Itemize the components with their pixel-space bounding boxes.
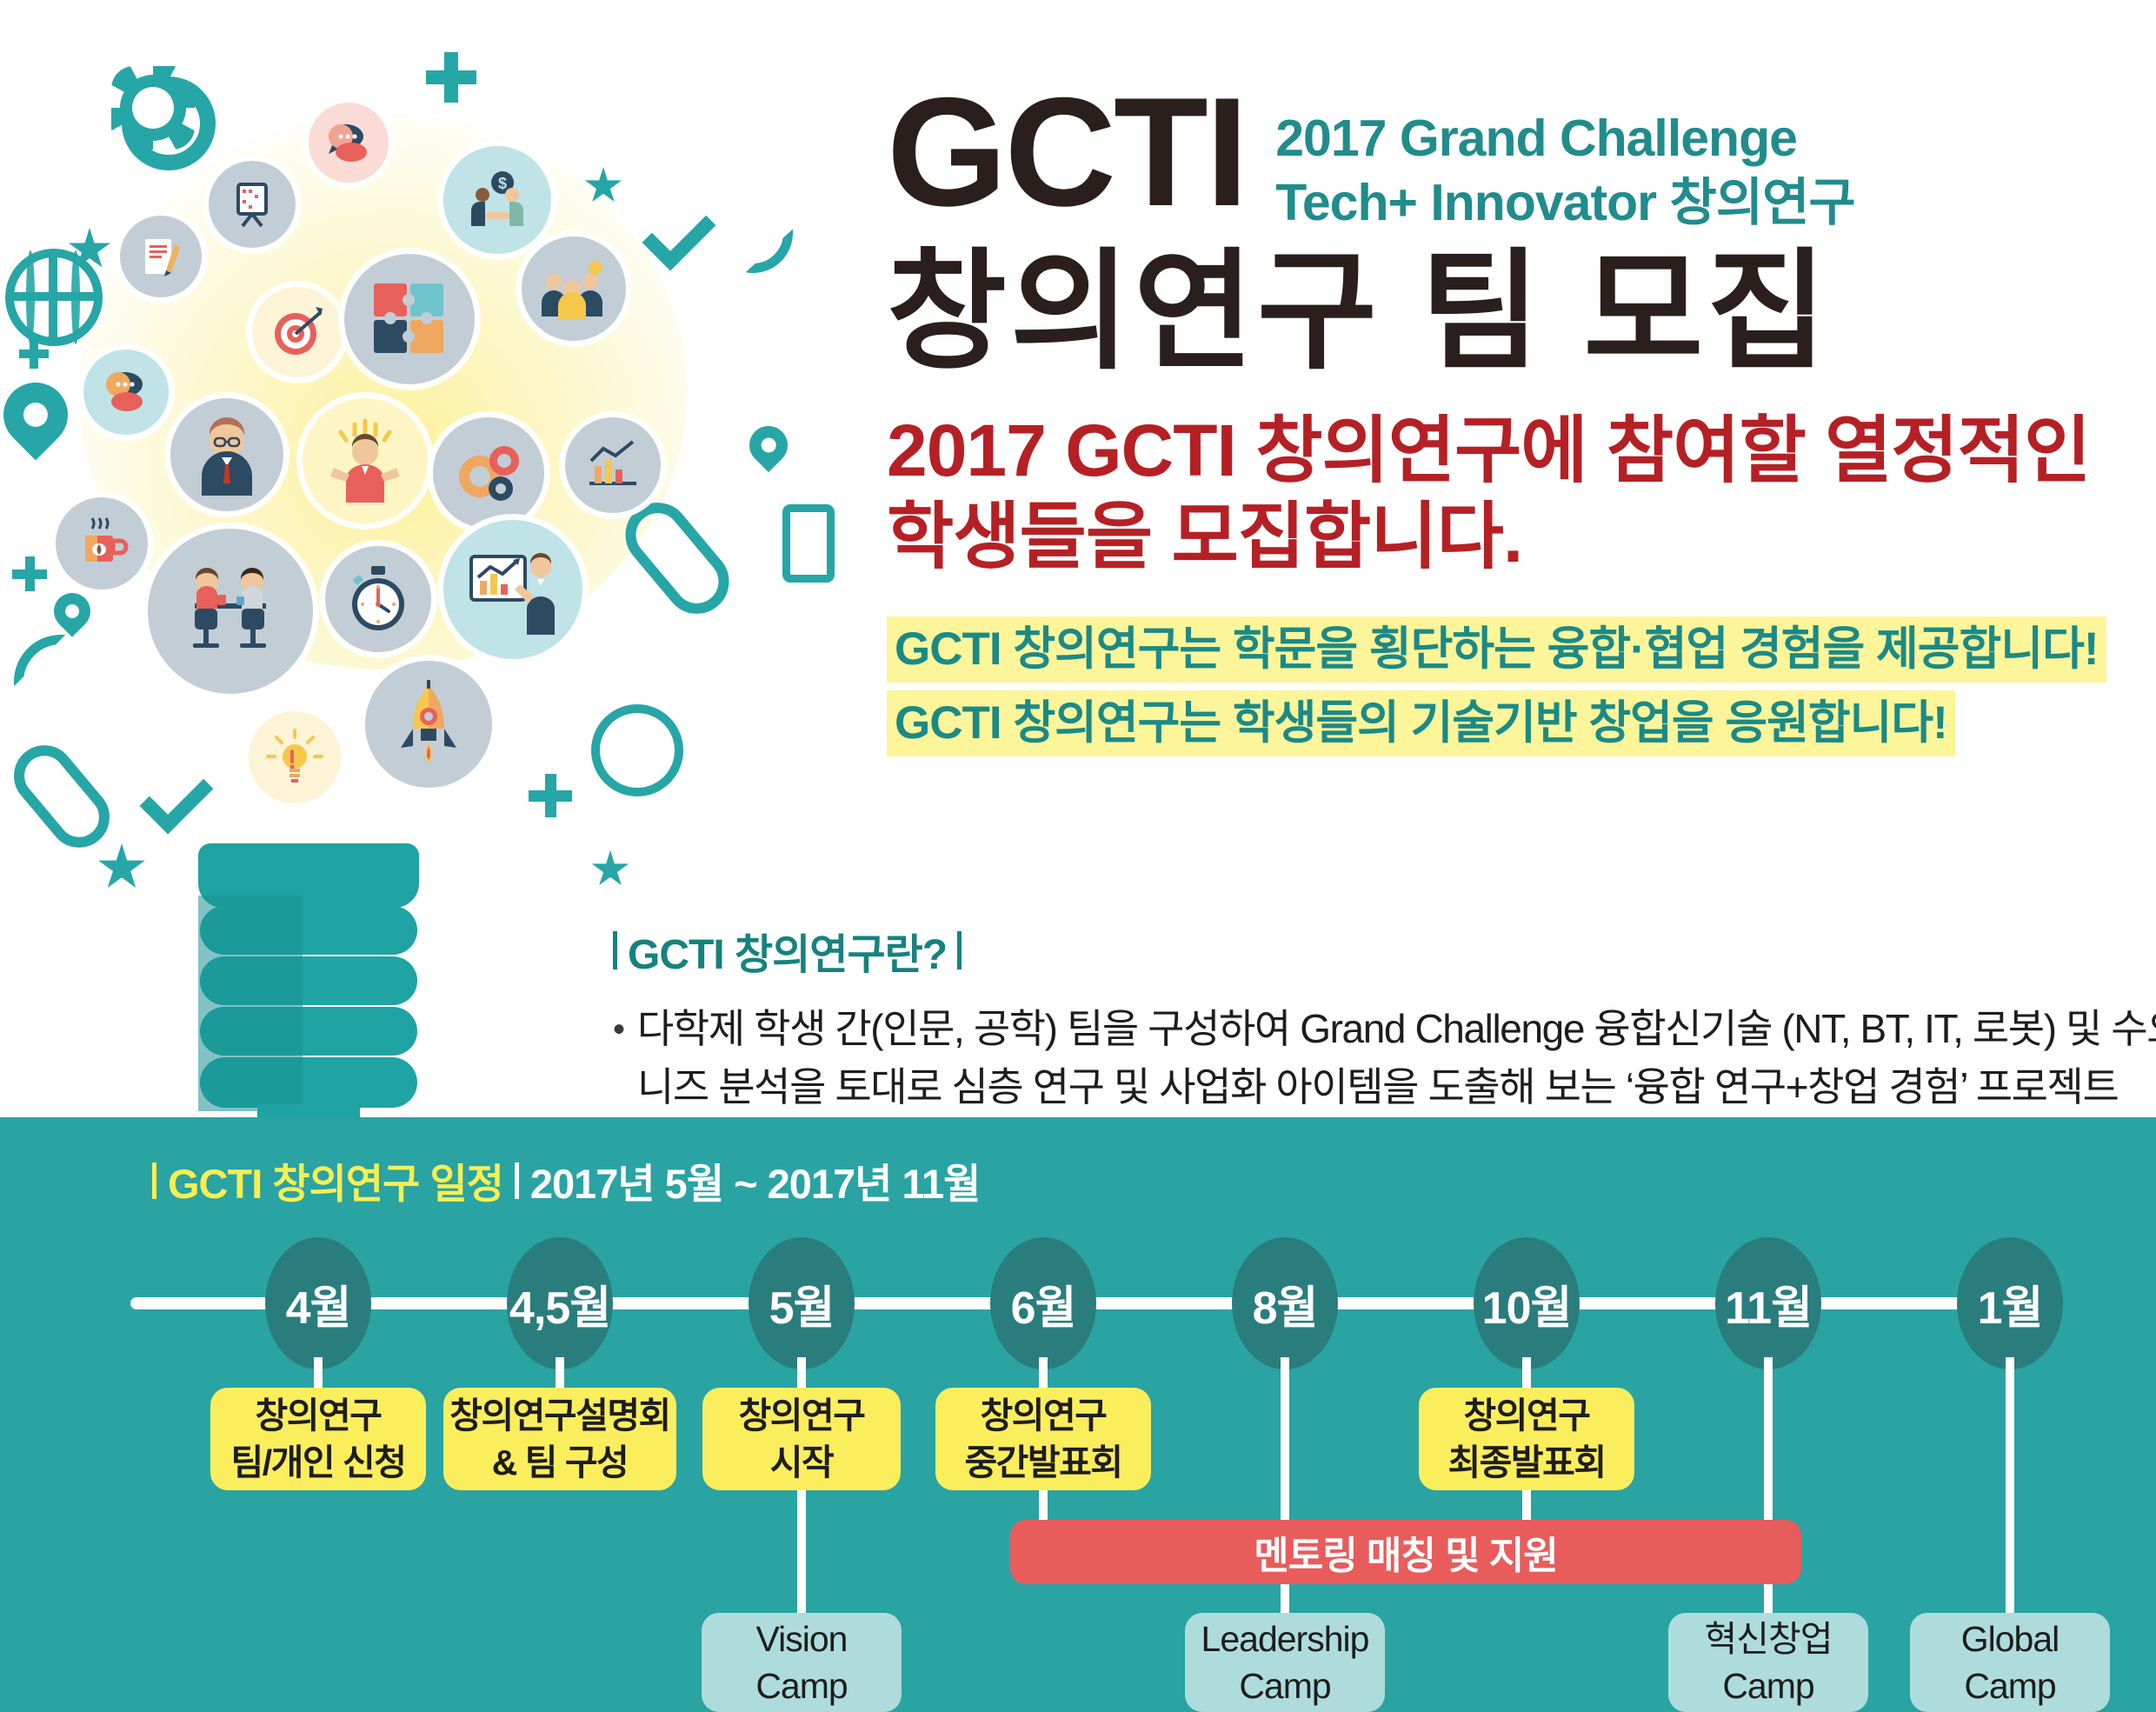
milestone-stem xyxy=(556,1357,564,1388)
milestone-box: 창의연구중간발표회 xyxy=(935,1388,1151,1490)
stopwatch-icon xyxy=(325,546,431,652)
celebrating-person-icon xyxy=(303,398,428,523)
camp-line1: 혁신창업 xyxy=(1705,1615,1833,1662)
milestone-stem xyxy=(314,1357,323,1388)
team-group-icon xyxy=(522,236,626,341)
plus-icon xyxy=(529,774,572,817)
schedule-bar-left xyxy=(152,1162,156,1199)
timeline-node-4,5월: 4,5월 xyxy=(507,1237,613,1369)
gcti-logo: GCTI xyxy=(887,87,1246,217)
milestone-box: 창의연구설명회& 팀 구성 xyxy=(443,1388,676,1490)
star-icon xyxy=(591,850,629,889)
highlight-line-2: GCTI 창의연구는 학생들의 기술기반 창업을 응원합니다! xyxy=(887,690,1955,756)
recruit-message: 2017 GCTI 창의연구에 참여할 열정적인 학생들을 모집합니다. xyxy=(887,408,2139,580)
location-pin-icon xyxy=(46,585,97,636)
businessman-icon xyxy=(170,398,283,511)
target-dartboard-icon xyxy=(252,287,343,377)
star-icon xyxy=(97,843,146,892)
schedule-bar-mid xyxy=(515,1162,519,1199)
milestone-line1: 창의연구설명회 xyxy=(449,1392,670,1439)
location-pin-icon xyxy=(742,418,795,472)
camp-box: 혁신창업Camp xyxy=(1668,1613,1868,1712)
camp-line2: Camp xyxy=(1964,1662,2055,1709)
milestone-line2: 팀/개인 신청 xyxy=(231,1439,406,1486)
recruit-message-line2: 학생들을 모집합니다. xyxy=(887,494,2139,580)
definition-line1: 다학제 학생 간(인문, 공학) 팀을 구성하여 Grand Challenge… xyxy=(637,1000,2156,1058)
timeline-node-10월: 10월 xyxy=(1474,1237,1580,1369)
timeline-node-1월: 1월 xyxy=(1957,1237,2063,1369)
coffee-cup-icon xyxy=(56,497,148,590)
definition-line2: 니즈 분석을 토대로 심층 연구 및 사업화 아이템을 도출해 보는 ‘융합 연… xyxy=(637,1058,2156,1116)
recruit-message-line1: 2017 GCTI 창의연구에 참여할 열정적인 xyxy=(887,408,2139,494)
puzzle-pieces-icon xyxy=(344,254,475,384)
plus-icon xyxy=(12,556,47,591)
location-pin-icon xyxy=(0,370,81,461)
camp-box: LeadershipCamp xyxy=(1185,1613,1385,1712)
milestone-line1: 창의연구 xyxy=(256,1392,382,1439)
camp-line1: Vision xyxy=(756,1615,848,1662)
wifi-icon xyxy=(713,193,793,273)
globe-icon-lines xyxy=(5,249,103,346)
wifi-icon xyxy=(14,635,108,729)
chat-bubbles-icon xyxy=(83,350,169,435)
gcti-subtitle: 2017 Grand Challenge Tech+ Innovator 창의연… xyxy=(1275,87,1854,236)
gcti-subtitle-line1: 2017 Grand Challenge xyxy=(1275,106,1854,170)
schedule-heading: GCTI 창의연구 일정 2017년 5월 ~ 2017년 11월 xyxy=(152,1150,980,1210)
milestone-line2: 시작 xyxy=(770,1439,833,1486)
definition-text: 다학제 학생 간(인문, 공학) 팀을 구성하여 Grand Challenge… xyxy=(637,1000,2156,1116)
camp-box: VisionCamp xyxy=(702,1613,902,1712)
milestone-box: 창의연구팀/개인 신청 xyxy=(210,1388,426,1490)
gears-cluster-icon xyxy=(433,417,544,529)
milestone-line1: 창의연구 xyxy=(981,1392,1107,1439)
milestone-line1: 창의연구 xyxy=(739,1392,865,1439)
presenter-chart-icon xyxy=(443,520,582,659)
mentoring-bar: 멘토링 매칭 및 지원 xyxy=(1010,1520,1801,1584)
meeting-table-icon xyxy=(148,529,313,694)
header-text-block: GCTI 2017 Grand Challenge Tech+ Innovato… xyxy=(887,87,2139,764)
schedule-title: GCTI 창의연구 일정 xyxy=(168,1150,503,1210)
timeline-node-8월: 8월 xyxy=(1232,1237,1338,1369)
timeline-node-6월: 6월 xyxy=(990,1237,1096,1369)
camp-line2: Camp xyxy=(755,1662,847,1709)
timeline-node-4월: 4월 xyxy=(265,1237,371,1369)
lightbulb-small-icon xyxy=(249,711,341,803)
camp-stem xyxy=(2006,1357,2014,1613)
presentation-board-icon xyxy=(209,161,296,248)
gcti-subtitle-line2: Tech+ Innovator 창의연구 xyxy=(1275,170,1854,235)
line-chart-icon xyxy=(565,417,661,513)
definition-heading: GCTI 창의연구란? xyxy=(613,920,2143,981)
bullet-icon: • xyxy=(613,1000,625,1116)
top-section: $ xyxy=(0,0,2156,1122)
checkmark-icon xyxy=(140,761,214,835)
checkmark-icon xyxy=(642,197,716,271)
svg-text:$: $ xyxy=(498,175,507,192)
plus-icon xyxy=(426,52,476,103)
camp-line2: Camp xyxy=(1722,1662,1813,1709)
milestone-line2: 중간발표회 xyxy=(964,1439,1121,1486)
milestone-box: 창의연구최종발표회 xyxy=(1419,1388,1634,1490)
definition-heading-text: GCTI 창의연구란? xyxy=(628,920,947,981)
globe-icon xyxy=(591,704,683,796)
timeline-node-5월: 5월 xyxy=(749,1237,855,1369)
schedule-range: 2017년 5월 ~ 2017년 11월 xyxy=(530,1150,981,1210)
highlight-block: GCTI 창의연구는 학문을 횡단하는 융합·협업 경험을 제공합니다! GCT… xyxy=(887,616,2139,764)
timeline-node-11월: 11월 xyxy=(1715,1237,1821,1369)
highlight-line-1: GCTI 창의연구는 학문을 횡단하는 융합·협업 경험을 제공합니다! xyxy=(887,616,2106,683)
heading-bar-left xyxy=(613,931,617,969)
chat-bubbles-icon xyxy=(309,103,389,183)
definition-block: GCTI 창의연구란? • 다학제 학생 간(인문, 공학) 팀을 구성하여 G… xyxy=(613,920,2143,1116)
paperclip-icon xyxy=(2,733,122,860)
bulb-shadow xyxy=(198,896,303,1111)
rocket-icon xyxy=(365,661,492,788)
camp-line1: Global xyxy=(1961,1615,2060,1662)
milestone-box: 창의연구시작 xyxy=(702,1388,901,1490)
gcti-logo-row: GCTI 2017 Grand Challenge Tech+ Innovato… xyxy=(887,87,2139,236)
bulb-base xyxy=(183,843,435,1122)
milestone-line2: & 팀 구성 xyxy=(492,1439,629,1486)
camp-line2: Camp xyxy=(1239,1662,1330,1709)
smartphone-icon xyxy=(782,504,835,583)
poster-root: $ xyxy=(0,0,2156,1712)
definition-body: • 다학제 학생 간(인문, 공학) 팀을 구성하여 Grand Challen… xyxy=(613,1000,2143,1116)
milestone-line2: 최종발표회 xyxy=(1447,1439,1605,1486)
page-title: 창의연구 팀 모집 xyxy=(887,246,2139,376)
document-pencil-icon xyxy=(120,216,202,297)
camp-box: GlobalCamp xyxy=(1910,1613,2110,1712)
camp-line1: Leadership xyxy=(1201,1615,1369,1662)
heading-bar-right xyxy=(957,931,962,969)
milestone-line1: 창의연구 xyxy=(1464,1392,1590,1439)
gear-icon-center xyxy=(132,87,174,129)
handshake-money-icon: $ xyxy=(443,146,551,254)
